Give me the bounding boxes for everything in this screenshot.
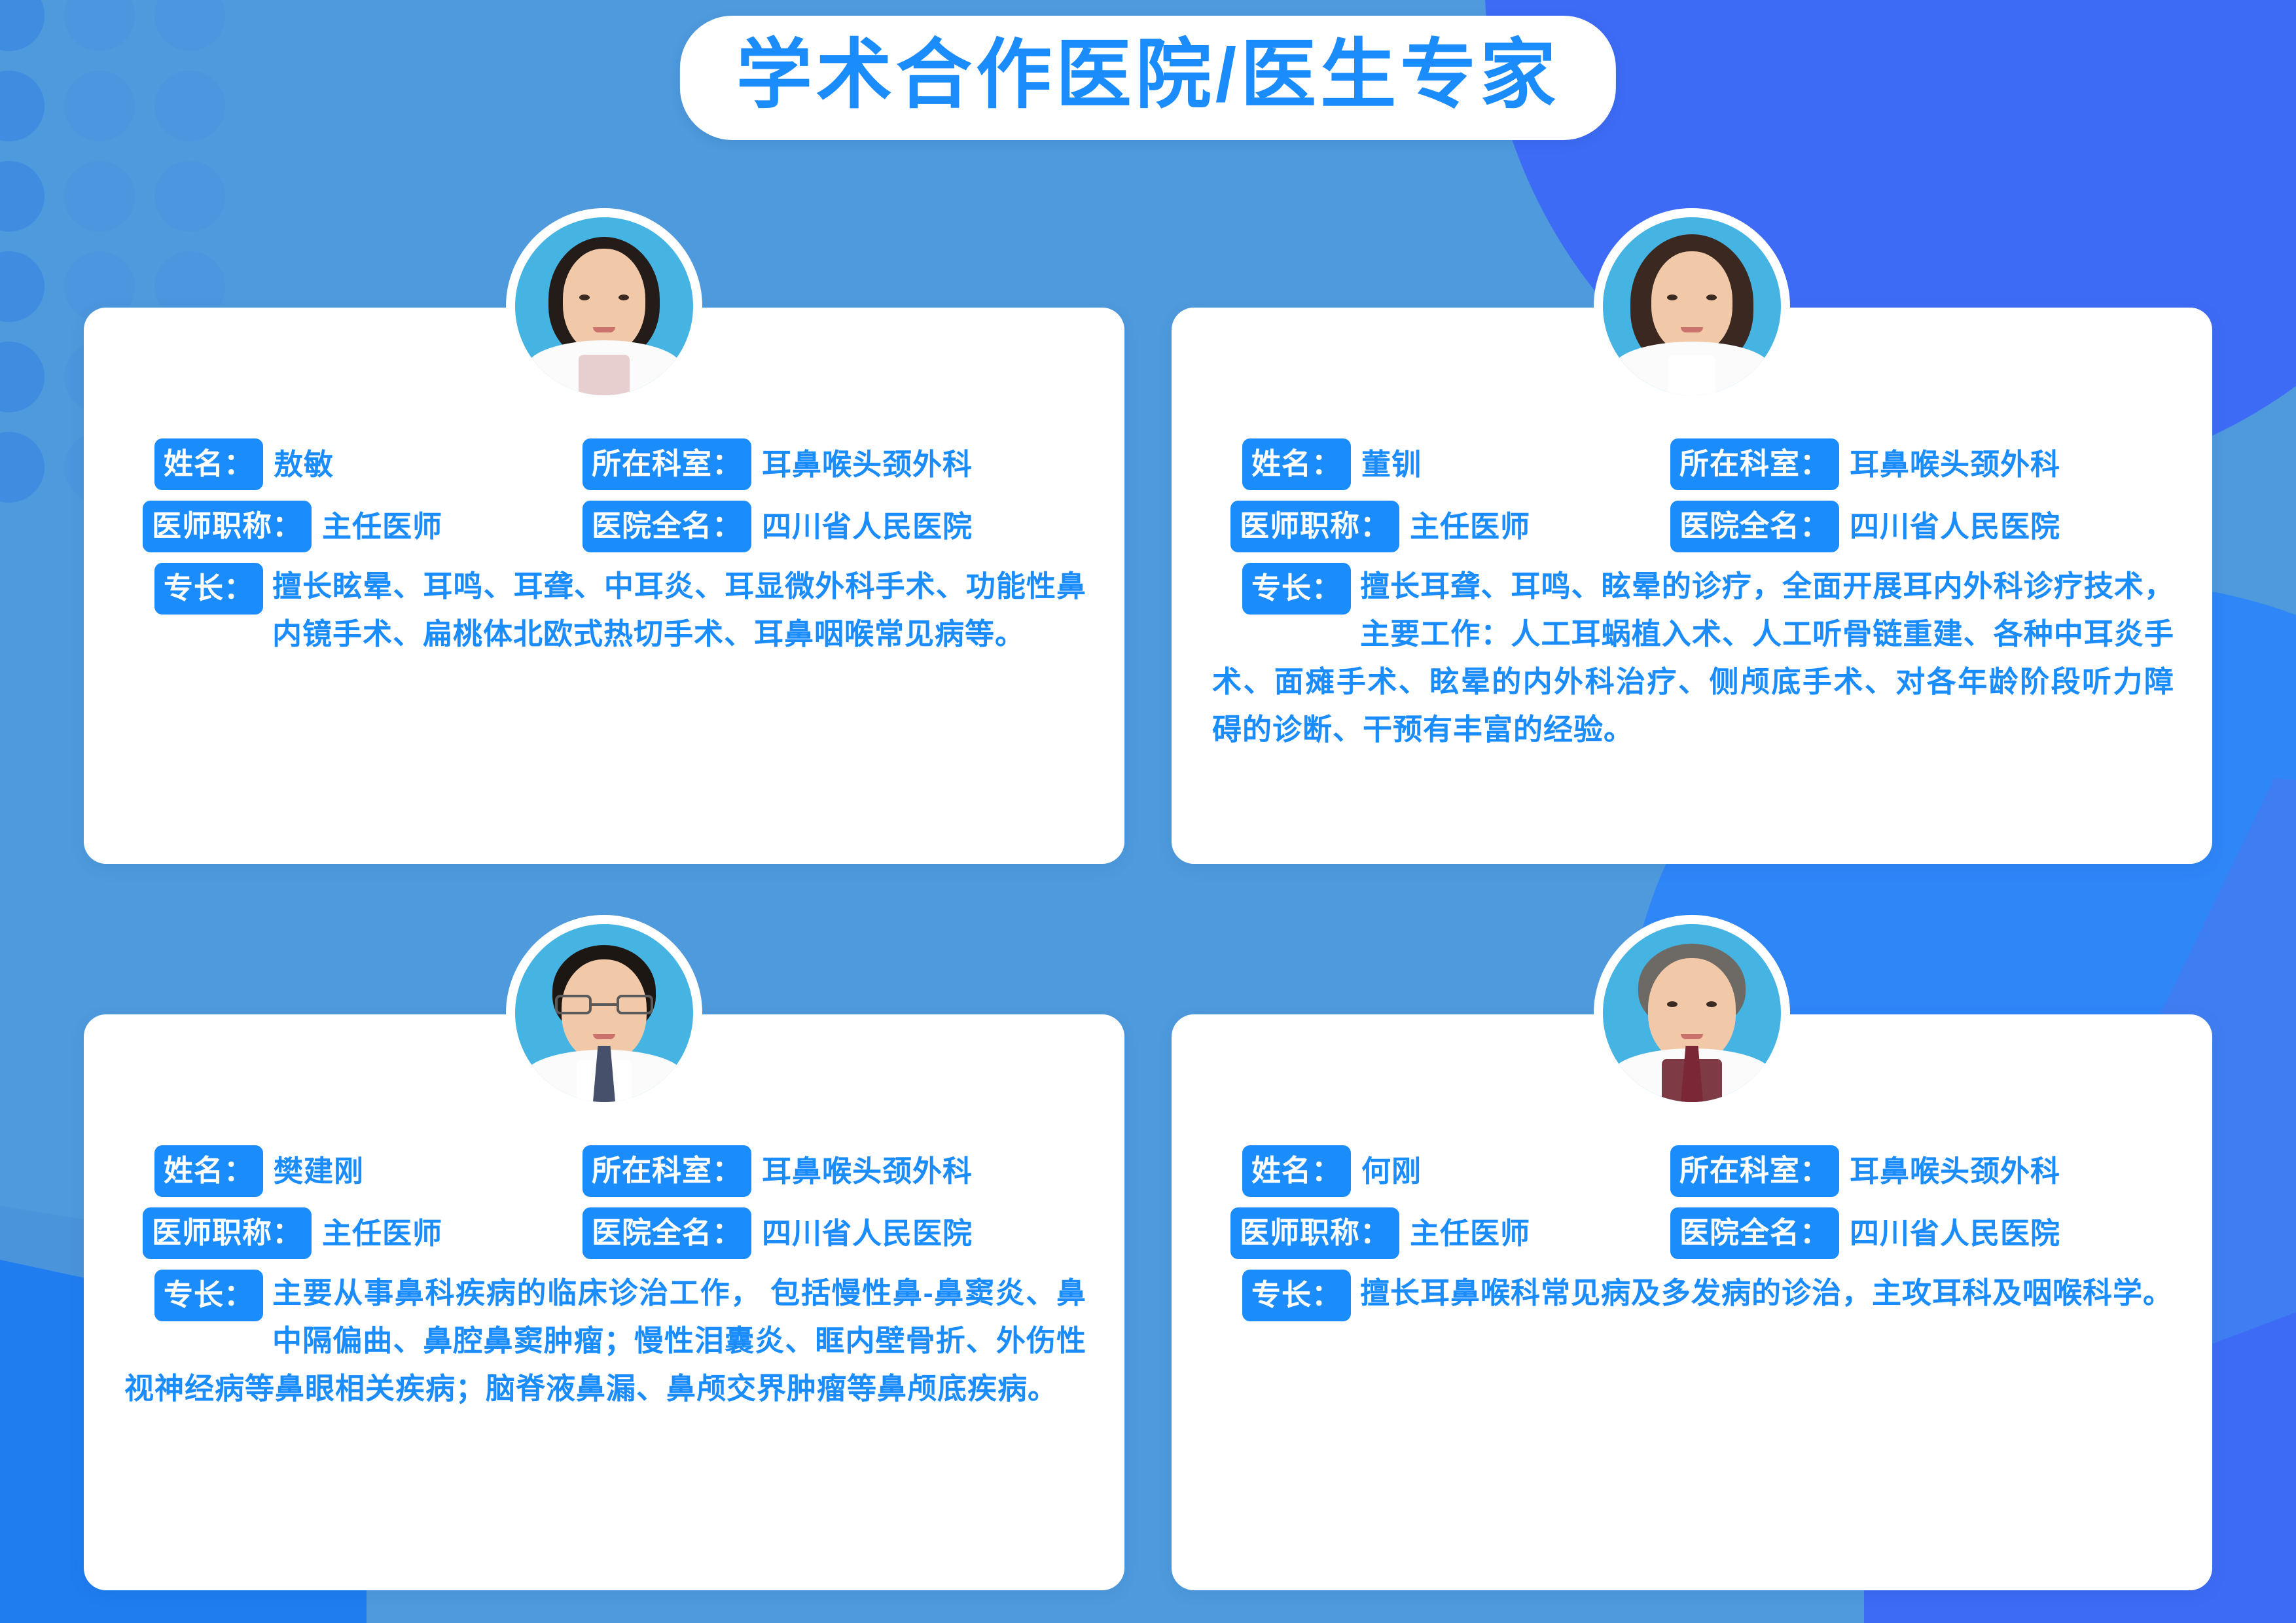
doctor-rank: 主任医师 xyxy=(1410,512,1530,541)
rank-label: 医师职称： xyxy=(1230,1207,1399,1259)
hospital-label: 医院全名： xyxy=(583,1207,751,1259)
info-row-specialty: 专长： 擅长耳聋、耳鸣、眩晕的诊疗，全面开展耳内外科诊疗技术，主要工作：人工耳蜗… xyxy=(1212,563,2174,754)
doctor-card-grid: 姓名： 敖敏 所在科室： 耳鼻喉头颈外科 医师职称： 主任医师 医院全名： 四川… xyxy=(0,0,2296,1623)
info-row-rank: 医师职称： 主任医师 医院全名： 四川省人民医院 xyxy=(124,1207,1086,1259)
info-row-specialty: 专长： 主要从事鼻科疾病的临床诊治工作， 包括慢性鼻-鼻窦炎、鼻中隔偏曲、鼻腔鼻… xyxy=(124,1270,1086,1413)
doctor-name: 樊建刚 xyxy=(274,1156,364,1186)
info-row-specialty: 专长： 擅长眩晕、耳鸣、耳聋、中耳炎、耳显微外科手术、功能性鼻内镜手术、扁桃体北… xyxy=(124,563,1086,658)
doctor-specialty: 擅长耳聋、耳鸣、眩晕的诊疗，全面开展耳内外科诊疗技术，主要工作：人工耳蜗植入术、… xyxy=(1212,563,2174,754)
doctor-info: 姓名： 董钏 所在科室： 耳鼻喉头颈外科 医师职称： 主任医师 医院全名： 四川… xyxy=(1172,438,2212,754)
info-row-name: 姓名： 董钏 所在科室： 耳鼻喉头颈外科 xyxy=(1212,438,2174,490)
doctor-info: 姓名： 敖敏 所在科室： 耳鼻喉头颈外科 医师职称： 主任医师 医院全名： 四川… xyxy=(84,438,1124,658)
name-label: 姓名： xyxy=(154,438,263,490)
department-label: 所在科室： xyxy=(583,1145,751,1197)
hospital-label: 医院全名： xyxy=(1670,501,1839,552)
avatar xyxy=(506,208,702,404)
doctor-hospital: 四川省人民医院 xyxy=(762,512,973,541)
specialty-label: 专长： xyxy=(1242,1270,1351,1321)
doctor-rank: 主任医师 xyxy=(322,1219,442,1248)
doctor-info: 姓名： 樊建刚 所在科室： 耳鼻喉头颈外科 医师职称： 主任医师 医院全名： 四… xyxy=(84,1145,1124,1413)
doctor-name: 敖敏 xyxy=(274,450,334,479)
page-title-pill: 学术合作医院/医生专家 xyxy=(680,16,1616,140)
name-label: 姓名： xyxy=(154,1145,263,1197)
doctor-hospital: 四川省人民医院 xyxy=(1850,1219,2060,1248)
rank-label: 医师职称： xyxy=(143,501,312,552)
hospital-label: 医院全名： xyxy=(1670,1207,1839,1259)
senior-male-doctor-avatar xyxy=(1603,924,1781,1102)
doctor-name: 董钏 xyxy=(1361,450,1422,479)
male-doctor-avatar xyxy=(515,924,693,1102)
avatar xyxy=(1594,915,1790,1111)
doctor-department: 耳鼻喉头颈外科 xyxy=(762,1156,973,1186)
page-title: 学术合作医院/医生专家 xyxy=(736,33,1560,118)
info-row-name: 姓名： 何刚 所在科室： 耳鼻喉头颈外科 xyxy=(1212,1145,2174,1197)
info-row-name: 姓名： 敖敏 所在科室： 耳鼻喉头颈外科 xyxy=(124,438,1086,490)
info-row-specialty: 专长： 擅长耳鼻喉科常见病及多发病的诊治，主攻耳科及咽喉科学。 xyxy=(1212,1270,2174,1317)
specialty-label: 专长： xyxy=(154,563,263,615)
rank-label: 医师职称： xyxy=(1230,501,1399,552)
doctor-department: 耳鼻喉头颈外科 xyxy=(762,450,973,479)
doctor-info: 姓名： 何刚 所在科室： 耳鼻喉头颈外科 医师职称： 主任医师 医院全名： 四川… xyxy=(1172,1145,2212,1324)
doctor-specialty: 擅长眩晕、耳鸣、耳聋、中耳炎、耳显微外科手术、功能性鼻内镜手术、扁桃体北欧式热切… xyxy=(124,563,1086,658)
doctor-rank: 主任医师 xyxy=(1410,1219,1530,1248)
rank-label: 医师职称： xyxy=(143,1207,312,1259)
hospital-label: 医院全名： xyxy=(583,501,751,552)
doctor-card[interactable]: 姓名： 董钏 所在科室： 耳鼻喉头颈外科 医师职称： 主任医师 医院全名： 四川… xyxy=(1172,308,2212,864)
info-row-name: 姓名： 樊建刚 所在科室： 耳鼻喉头颈外科 xyxy=(124,1145,1086,1197)
doctor-card[interactable]: 姓名： 樊建刚 所在科室： 耳鼻喉头颈外科 医师职称： 主任医师 医院全名： 四… xyxy=(84,1014,1124,1590)
avatar xyxy=(506,915,702,1111)
specialty-label: 专长： xyxy=(154,1270,263,1321)
doctor-department: 耳鼻喉头颈外科 xyxy=(1850,450,2060,479)
doctor-department: 耳鼻喉头颈外科 xyxy=(1850,1156,2060,1186)
female-doctor-avatar xyxy=(515,217,693,395)
department-label: 所在科室： xyxy=(583,438,751,490)
info-row-rank: 医师职称： 主任医师 医院全名： 四川省人民医院 xyxy=(1212,501,2174,552)
info-row-rank: 医师职称： 主任医师 医院全名： 四川省人民医院 xyxy=(124,501,1086,552)
doctor-specialty: 擅长耳鼻喉科常见病及多发病的诊治，主攻耳科及咽喉科学。 xyxy=(1212,1270,2174,1317)
doctor-card[interactable]: 姓名： 何刚 所在科室： 耳鼻喉头颈外科 医师职称： 主任医师 医院全名： 四川… xyxy=(1172,1014,2212,1590)
doctor-hospital: 四川省人民医院 xyxy=(762,1219,973,1248)
doctor-rank: 主任医师 xyxy=(322,512,442,541)
doctor-specialty: 主要从事鼻科疾病的临床诊治工作， 包括慢性鼻-鼻窦炎、鼻中隔偏曲、鼻腔鼻窦肿瘤；… xyxy=(124,1270,1086,1413)
avatar xyxy=(1594,208,1790,404)
info-row-rank: 医师职称： 主任医师 医院全名： 四川省人民医院 xyxy=(1212,1207,2174,1259)
name-label: 姓名： xyxy=(1242,438,1351,490)
department-label: 所在科室： xyxy=(1670,438,1839,490)
female-doctor-avatar xyxy=(1603,217,1781,395)
specialty-label: 专长： xyxy=(1242,563,1351,615)
name-label: 姓名： xyxy=(1242,1145,1351,1197)
doctor-hospital: 四川省人民医院 xyxy=(1850,512,2060,541)
department-label: 所在科室： xyxy=(1670,1145,1839,1197)
doctor-name: 何刚 xyxy=(1361,1156,1422,1186)
doctor-card[interactable]: 姓名： 敖敏 所在科室： 耳鼻喉头颈外科 医师职称： 主任医师 医院全名： 四川… xyxy=(84,308,1124,864)
